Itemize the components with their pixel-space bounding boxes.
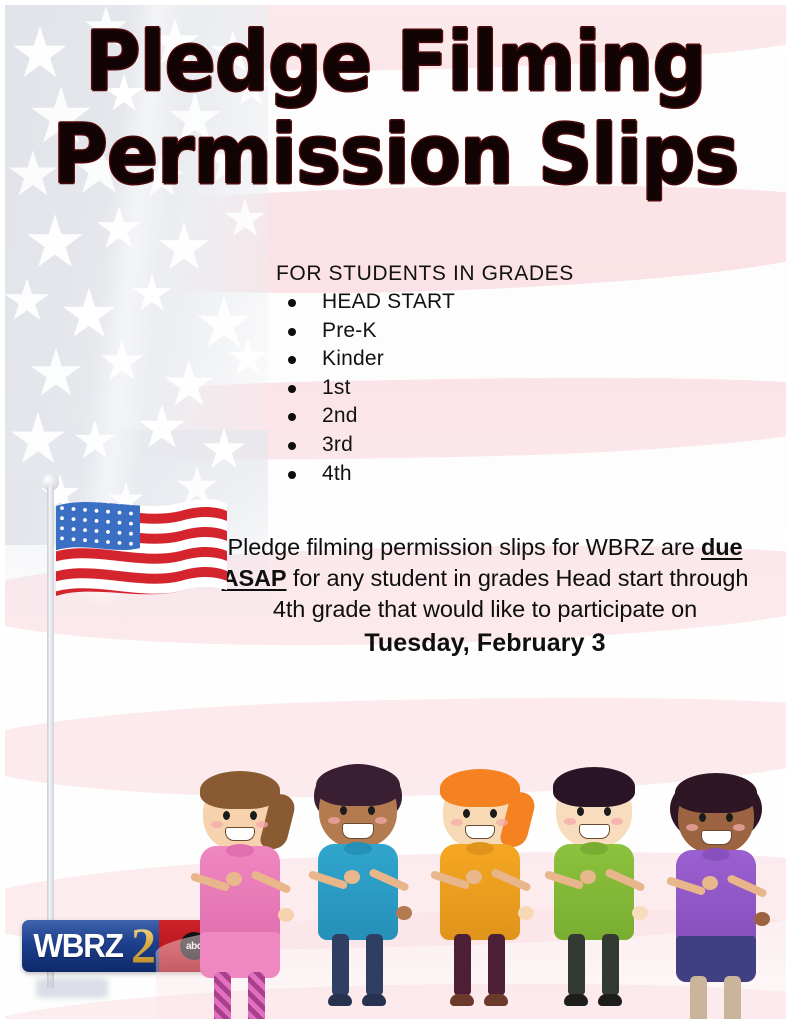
child-hand <box>754 912 770 926</box>
child-figure <box>304 766 412 1024</box>
child-shirt <box>200 846 280 942</box>
child-hair-front <box>316 765 400 806</box>
child-figure <box>426 770 534 1024</box>
child-leg <box>724 976 741 1024</box>
child-cheek <box>451 819 463 826</box>
child-eye <box>577 807 584 816</box>
grade-list-item: Pre-K <box>276 317 574 346</box>
child-hand-over-heart <box>580 870 596 884</box>
flag-icon <box>54 492 229 632</box>
child-shirt <box>318 844 398 940</box>
flagpole-base-blur <box>36 978 108 998</box>
child-smile <box>701 830 732 845</box>
child-hair-front <box>553 767 635 807</box>
child-shoe <box>328 994 352 1006</box>
child-figure <box>540 768 648 1024</box>
child-shoe <box>598 994 622 1006</box>
children-illustration <box>176 748 776 1024</box>
child-leg <box>248 972 265 1024</box>
child-cheek <box>496 819 508 826</box>
child-collar <box>226 844 254 857</box>
child-smile <box>579 824 610 839</box>
child-hand-over-heart <box>344 870 360 884</box>
child-shoe <box>564 994 588 1006</box>
body-text-part2: for any student in grades Head start thr… <box>273 565 748 622</box>
flyer-poster: Pledge Filming Permission Slips FOR STUD… <box>0 0 791 1024</box>
child-collar <box>580 842 608 855</box>
child-smile <box>465 825 495 840</box>
grade-list-item: 4th <box>276 460 574 489</box>
grades-list: HEAD STARTPre-KKinder1st2nd3rd4th <box>276 288 574 488</box>
grade-list-item: HEAD START <box>276 288 574 317</box>
body-text-part1: Pledge filming permission slips for WBRZ… <box>228 534 702 560</box>
child-collar <box>702 848 730 861</box>
child-shirt <box>440 844 520 940</box>
child-skirt <box>676 936 756 982</box>
child-cheek <box>328 817 340 824</box>
logo-channel-number: 2 <box>131 920 156 971</box>
child-leg <box>454 934 471 996</box>
flagpole <box>47 484 54 989</box>
child-leg <box>332 934 349 996</box>
child-smile <box>342 823 374 838</box>
grade-list-item: Kinder <box>276 345 574 374</box>
child-leg <box>214 972 231 1024</box>
title-line-2: Permission Slips <box>32 109 760 202</box>
child-shirt <box>676 850 756 946</box>
child-collar <box>344 842 372 855</box>
child-hand <box>518 906 534 920</box>
page-title: Pledge Filming Permission Slips <box>32 16 760 203</box>
child-eye <box>699 813 706 822</box>
child-cheek <box>733 824 745 831</box>
child-shoe <box>362 994 386 1006</box>
child-figure <box>186 772 294 1024</box>
child-eye <box>490 809 497 818</box>
child-hand <box>278 908 294 922</box>
child-leg <box>488 934 505 996</box>
logo-call-letters: WBRZ <box>33 927 122 965</box>
grades-heading: FOR STUDENTS IN GRADES <box>276 262 574 286</box>
body-paragraph: Pledge filming permission slips for WBRZ… <box>205 532 765 661</box>
child-leg <box>568 934 585 996</box>
child-leg <box>690 976 707 1024</box>
grade-list-item: 3rd <box>276 431 574 460</box>
child-cheek <box>211 821 223 828</box>
child-leg <box>366 934 383 996</box>
child-eye <box>463 809 470 818</box>
child-shoe <box>450 994 474 1006</box>
child-shirt <box>554 844 634 940</box>
child-hand <box>396 906 412 920</box>
title-line-1: Pledge Filming <box>85 15 705 110</box>
child-cheek <box>256 821 268 828</box>
child-hand <box>632 906 648 920</box>
grade-list-item: 2nd <box>276 402 574 431</box>
american-flag-illustration <box>36 470 226 650</box>
child-figure <box>662 774 770 1024</box>
grades-block: FOR STUDENTS IN GRADES HEAD STARTPre-KKi… <box>276 262 574 488</box>
child-hand-over-heart <box>702 876 718 890</box>
child-cheek <box>611 818 623 825</box>
event-date: Tuesday, February 3 <box>205 625 765 661</box>
child-skirt <box>200 932 280 978</box>
child-eye <box>223 811 230 820</box>
child-shoe <box>484 994 508 1006</box>
child-hair-front <box>675 773 757 813</box>
child-hand-over-heart <box>226 872 242 886</box>
child-smile <box>225 827 255 842</box>
child-leg <box>602 934 619 996</box>
child-eye <box>250 811 257 820</box>
child-hand-over-heart <box>466 870 482 884</box>
child-collar <box>466 842 494 855</box>
grade-list-item: 1st <box>276 374 574 403</box>
